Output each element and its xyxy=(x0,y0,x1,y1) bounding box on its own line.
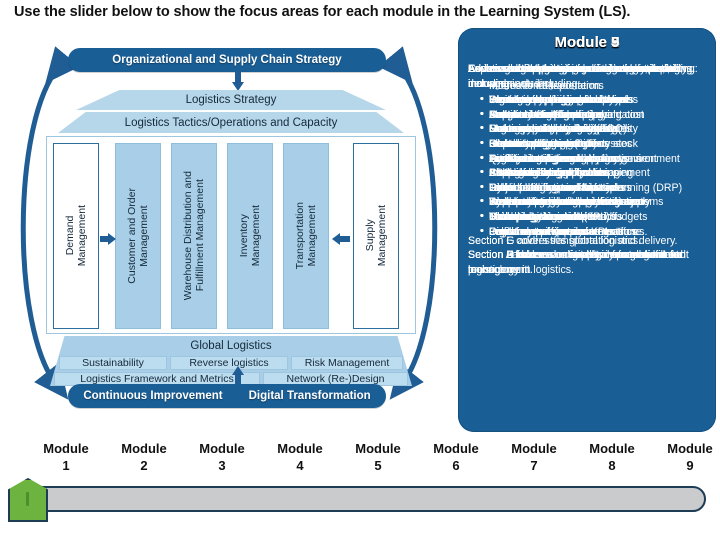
global-logistics-label: Global Logistics xyxy=(50,340,412,352)
module-word: Module xyxy=(265,440,335,457)
continuous-improvement-label: Continuous Improvement xyxy=(83,390,222,402)
module-label-row: Module1Module2Module3Module4Module5Modul… xyxy=(0,440,720,480)
module-word: Module xyxy=(343,440,413,457)
module-bullet: Cybersecurity considerations xyxy=(480,181,706,196)
cell-label: Sustainability xyxy=(82,357,144,369)
module-word: Module xyxy=(421,440,491,457)
organizational-strategy-bar: Organizational and Supply Chain Strategy xyxy=(68,48,386,72)
column-warehouse-distribution: Warehouse Distribution and Fulfillment M… xyxy=(171,143,217,329)
organizational-strategy-label: Organizational and Supply Chain Strategy xyxy=(112,54,341,66)
module-label-4[interactable]: Module4 xyxy=(265,440,335,474)
column-supply-management: Supply Management xyxy=(353,143,399,329)
module-bullet: Blockchain in supply chains xyxy=(480,166,706,181)
slider-thumb-grip-icon xyxy=(26,492,29,506)
module-number: 1 xyxy=(31,457,101,474)
module-bullet: Digital technologies and trends xyxy=(480,93,706,108)
module-number: 6 xyxy=(421,457,491,474)
module-label-1[interactable]: Module1 xyxy=(31,440,101,474)
column-transportation-management: Transportation Management xyxy=(283,143,329,329)
module-intro: Explores digital transformation in logis… xyxy=(468,62,706,91)
column-label: Customer and Order Management xyxy=(126,188,150,284)
column-label: Transportation Management xyxy=(294,202,318,269)
right-arrow-icon xyxy=(100,233,115,245)
module-number: 2 xyxy=(109,457,179,474)
module-bullet: Systems integration xyxy=(480,195,706,210)
module-bullet: Automation and robotics xyxy=(480,108,706,123)
module-number: 4 xyxy=(265,457,335,474)
module-bullet: Artificial intelligence applications xyxy=(480,152,706,167)
module-word: Module xyxy=(31,440,101,457)
module-bullet: Internet of Things (IoT) xyxy=(480,137,706,152)
functional-columns-container: Demand Management Customer and Order Man… xyxy=(46,136,416,334)
column-demand-management: Demand Management xyxy=(53,143,99,329)
module-number: 7 xyxy=(499,457,569,474)
module-title-stack: Module 1Module 2Module 3Module 4Module 5… xyxy=(458,34,716,60)
module-label-2[interactable]: Module2 xyxy=(109,440,179,474)
left-arrow-icon xyxy=(332,233,350,245)
column-label: Supply Management xyxy=(364,205,388,266)
foundation-row-1: Sustainability Reverse logistics Risk Ma… xyxy=(50,356,412,370)
improvement-transformation-bar: Continuous Improvement Digital Transform… xyxy=(68,384,386,408)
module-number: 3 xyxy=(187,457,257,474)
cell-sustainability: Sustainability xyxy=(59,356,167,370)
down-arrow-icon xyxy=(232,72,244,92)
logistics-tactics-band: Logistics Tactics/Operations and Capacit… xyxy=(58,112,404,133)
module-word: Module xyxy=(577,440,647,457)
module-number: 8 xyxy=(577,457,647,474)
up-arrow-icon xyxy=(232,366,244,386)
logistics-strategy-label: Logistics Strategy xyxy=(186,94,277,106)
module-label-8[interactable]: Module8 xyxy=(577,440,647,474)
module-label-3[interactable]: Module3 xyxy=(187,440,257,474)
column-customer-order-management: Customer and Order Management xyxy=(115,143,161,329)
module-text-layer-9: Explores digital transformation in logis… xyxy=(468,62,706,288)
page-title: Use the slider below to show the focus a… xyxy=(14,4,714,20)
cell-risk-management: Risk Management xyxy=(291,356,403,370)
module-number: 5 xyxy=(343,457,413,474)
logistics-system-diagram: Organizational and Supply Chain Strategy… xyxy=(6,28,454,426)
module-bullet: Data analytics and visibility xyxy=(480,122,706,137)
module-word: Module xyxy=(109,440,179,457)
module-bullet-list: Digital technologies and trendsAutomatio… xyxy=(468,93,706,239)
module-bullet: Digital maturity assessment. xyxy=(480,225,706,240)
module-slider-thumb[interactable] xyxy=(8,478,48,522)
module-detail-panel: Module 1Module 2Module 3Module 4Module 5… xyxy=(458,28,716,432)
logistics-tactics-label: Logistics Tactics/Operations and Capacit… xyxy=(125,117,338,129)
module-label-6[interactable]: Module6 xyxy=(421,440,491,474)
cell-reverse-logistics: Reverse logistics xyxy=(170,356,288,370)
module-label-5[interactable]: Module5 xyxy=(343,440,413,474)
module-word: Module xyxy=(187,440,257,457)
module-bullet: Technology roadmaps xyxy=(480,210,706,225)
module-title-layer-9: Module 9 xyxy=(458,34,716,51)
logistics-strategy-band: Logistics Strategy xyxy=(76,90,386,110)
module-slider-track[interactable] xyxy=(14,486,706,512)
module-word: Module xyxy=(499,440,569,457)
module-text-stack: An introduction to logistics and supply … xyxy=(458,62,716,430)
cell-label: Reverse logistics xyxy=(189,357,268,369)
digital-transformation-label: Digital Transformation xyxy=(249,390,371,402)
slide-canvas: Use the slider below to show the focus a… xyxy=(0,0,720,540)
module-word: Module xyxy=(655,440,720,457)
module-section-note: Section I addresses digital transformati… xyxy=(468,248,706,277)
module-number: 9 xyxy=(655,457,720,474)
column-label: Demand Management xyxy=(64,205,88,266)
column-inventory-management: Inventory Management xyxy=(227,143,273,329)
cell-label: Risk Management xyxy=(305,357,390,369)
module-label-7[interactable]: Module7 xyxy=(499,440,569,474)
module-label-9[interactable]: Module9 xyxy=(655,440,720,474)
column-label: Warehouse Distribution and Fulfillment M… xyxy=(182,171,206,300)
column-label: Inventory Management xyxy=(238,205,262,266)
